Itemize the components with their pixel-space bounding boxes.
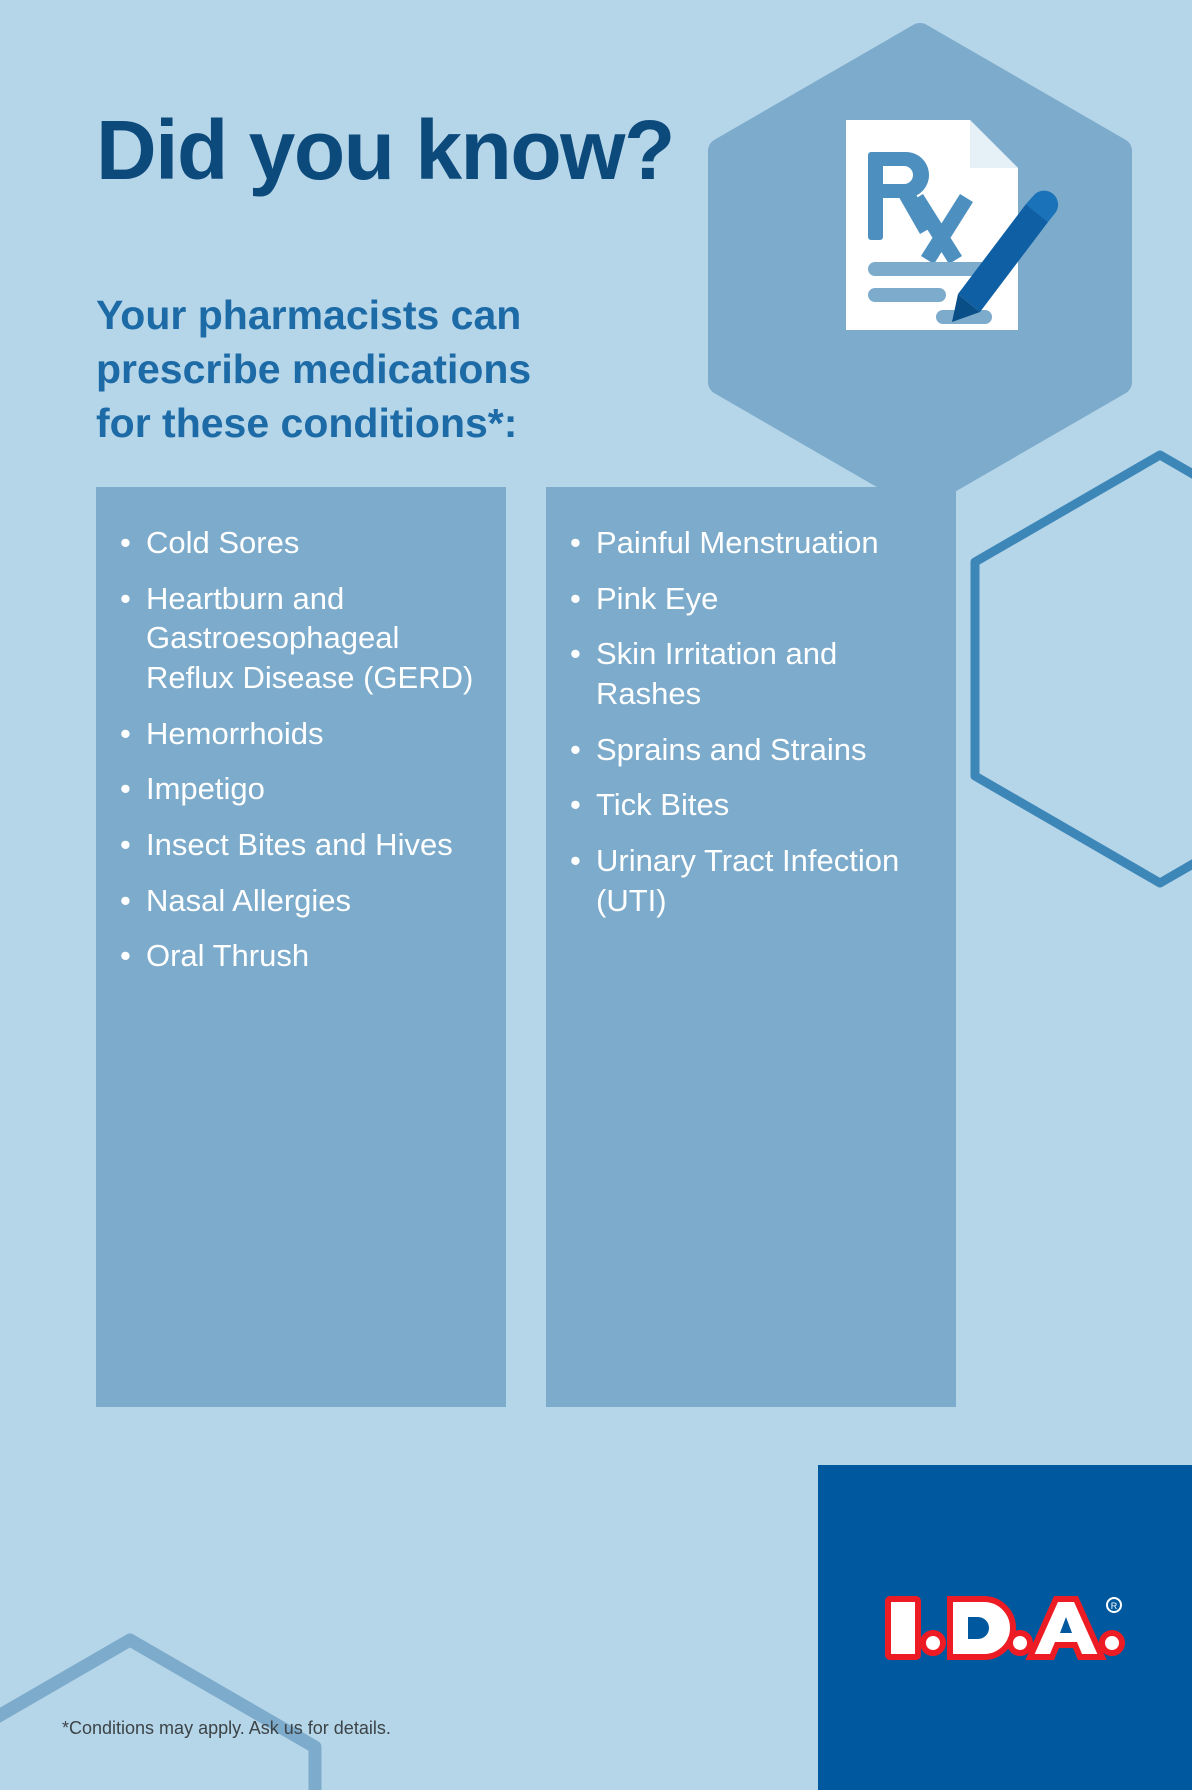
condition-label: Heartburn and Gastroesophageal Reflux Di…	[146, 581, 473, 695]
list-item: • Heartburn and Gastroesophageal Reflux …	[118, 579, 484, 698]
bullet-icon: •	[120, 825, 131, 865]
bullet-icon: •	[120, 714, 131, 754]
list-item: • Sprains and Strains	[568, 730, 934, 770]
svg-text:R: R	[1111, 1601, 1118, 1611]
list-item: • Urinary Tract Infection (UTI)	[568, 841, 934, 920]
condition-label: Nasal Allergies	[146, 883, 351, 918]
bullet-icon: •	[120, 579, 131, 619]
condition-label: Tick Bites	[596, 787, 729, 822]
footnote-disclaimer: *Conditions may apply. Ask us for detail…	[62, 1718, 391, 1739]
bullet-icon: •	[570, 730, 581, 770]
hexagon-outline-right	[975, 455, 1192, 883]
subtitle-line-3: for these conditions*:	[96, 396, 656, 450]
page-subtitle: Your pharmacists can prescribe medicatio…	[96, 288, 656, 450]
bullet-icon: •	[120, 523, 131, 563]
poster-canvas: Did you know? Your pharmacists can presc…	[0, 0, 1192, 1790]
condition-label: Skin Irritation and Rashes	[596, 636, 837, 711]
document-fold-corner	[970, 120, 1018, 168]
list-item: • Tick Bites	[568, 785, 934, 825]
bullet-icon: •	[570, 523, 581, 563]
conditions-panel-left: • Cold Sores • Heartburn and Gastroesoph…	[96, 487, 506, 1407]
list-item: • Oral Thrush	[118, 936, 484, 976]
list-item: • Hemorrhoids	[118, 714, 484, 754]
ida-logo: R I·D·A·	[818, 1465, 1192, 1790]
condition-label: Hemorrhoids	[146, 716, 323, 751]
condition-label: Painful Menstruation	[596, 525, 879, 560]
condition-label: Oral Thrush	[146, 938, 309, 973]
bullet-icon: •	[120, 936, 131, 976]
condition-label: Urinary Tract Infection (UTI)	[596, 843, 899, 918]
page-title: Did you know?	[96, 108, 674, 192]
list-item: • Impetigo	[118, 769, 484, 809]
hexagon-outline-bottom-left	[0, 1640, 315, 1790]
condition-label: Insect Bites and Hives	[146, 827, 453, 862]
bullet-icon: •	[120, 769, 131, 809]
conditions-list-right: • Painful Menstruation • Pink Eye • Skin…	[546, 487, 956, 920]
document-line-2	[868, 288, 946, 302]
condition-label: Pink Eye	[596, 581, 718, 616]
subtitle-line-2: prescribe medications	[96, 342, 656, 396]
ida-wordmark: R	[888, 1598, 1122, 1657]
condition-label: Cold Sores	[146, 525, 299, 560]
list-item: • Insect Bites and Hives	[118, 825, 484, 865]
rx-prescription-document-icon	[830, 110, 1060, 340]
list-item: • Nasal Allergies	[118, 881, 484, 921]
subtitle-line-1: Your pharmacists can	[96, 288, 656, 342]
bullet-icon: •	[570, 579, 581, 619]
condition-label: Sprains and Strains	[596, 732, 867, 767]
conditions-panel-right: • Painful Menstruation • Pink Eye • Skin…	[546, 487, 956, 1407]
condition-label: Impetigo	[146, 771, 265, 806]
list-item: • Cold Sores	[118, 523, 484, 563]
bullet-icon: •	[570, 785, 581, 825]
conditions-list-left: • Cold Sores • Heartburn and Gastroesoph…	[96, 487, 506, 976]
list-item: • Pink Eye	[568, 579, 934, 619]
bullet-icon: •	[570, 841, 581, 881]
list-item: • Painful Menstruation	[568, 523, 934, 563]
list-item: • Skin Irritation and Rashes	[568, 634, 934, 713]
bullet-icon: •	[570, 634, 581, 674]
bullet-icon: •	[120, 881, 131, 921]
